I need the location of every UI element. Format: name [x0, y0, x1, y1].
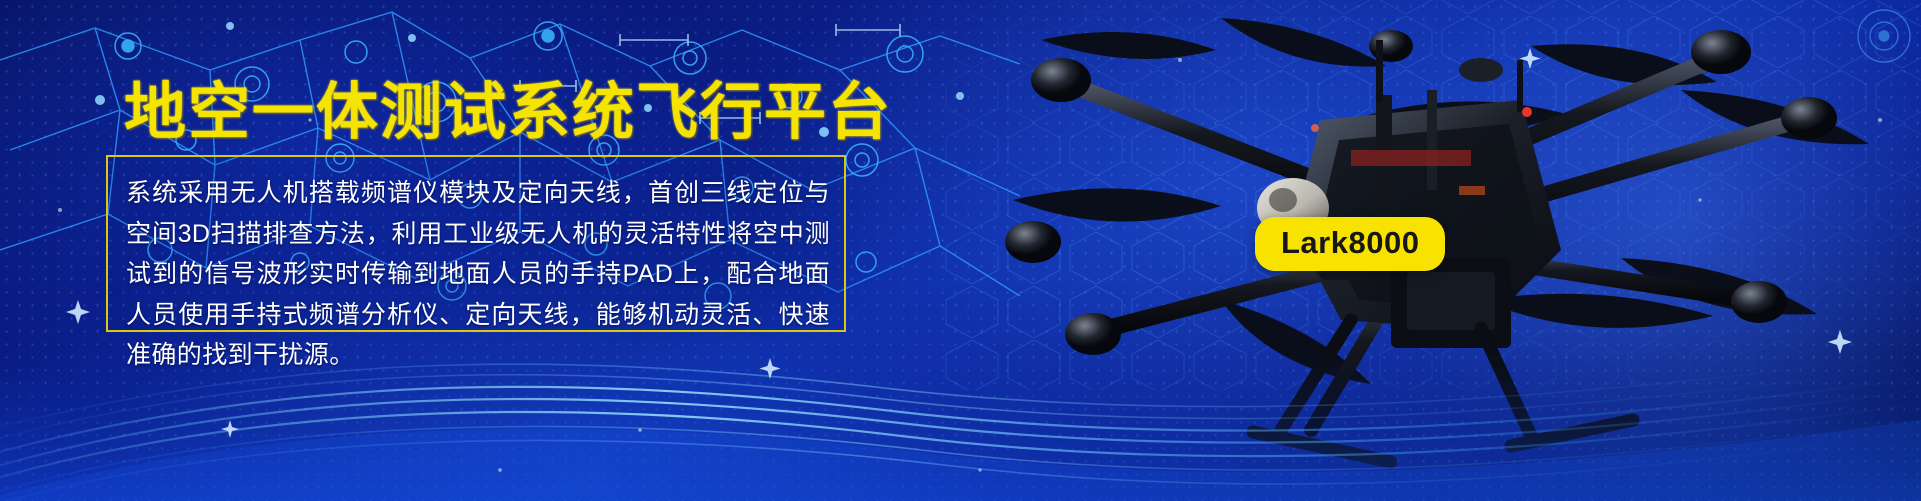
- product-banner: 地空一体测试系统飞行平台 系统采用无人机搭载频谱仪模块及定向天线，首创三线定位与…: [0, 0, 1921, 501]
- page-title: 地空一体测试系统飞行平台: [124, 78, 892, 148]
- description-text: 系统采用无人机搭载频谱仪模块及定向天线，首创三线定位与空间3D扫描排查方法，利用…: [126, 173, 830, 376]
- description-box: 系统采用无人机搭载频谱仪模块及定向天线，首创三线定位与空间3D扫描排查方法，利用…: [106, 155, 846, 332]
- status-badge: Lark8000: [1255, 217, 1445, 271]
